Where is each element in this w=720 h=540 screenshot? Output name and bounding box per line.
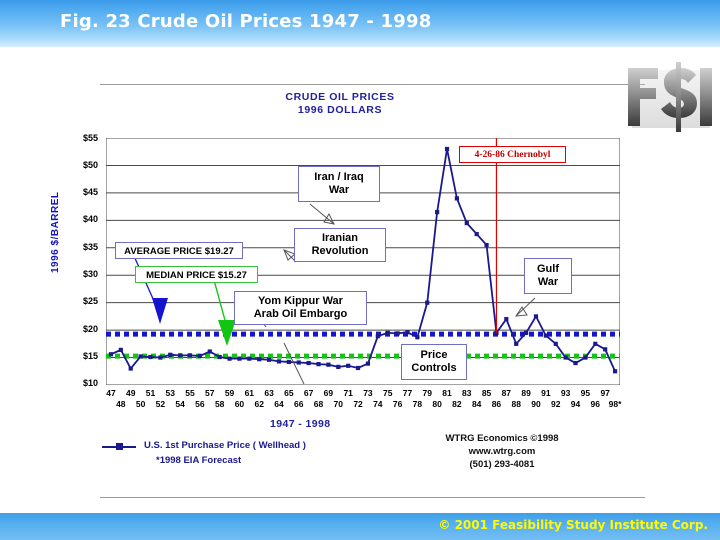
x-tick-58: 58 — [211, 399, 229, 409]
x-tick-86: 86 — [487, 399, 505, 409]
annotation-iranian-revolution-line2: Revolution — [312, 245, 369, 257]
annotation-gulf-war-line1: Gulf — [537, 263, 559, 275]
x-tick-48: 48 — [112, 399, 130, 409]
annotation-iran-iraq-war-line2: War — [329, 184, 349, 196]
x-tick-84: 84 — [468, 399, 486, 409]
y-tick-20: $20 — [83, 324, 98, 334]
x-axis-label: 1947 - 1998 — [270, 418, 330, 430]
x-tick-70: 70 — [329, 399, 347, 409]
x-tick-49: 49 — [122, 388, 140, 398]
x-tick-95: 95 — [576, 388, 594, 398]
x-tick-83: 83 — [458, 388, 476, 398]
y-tick-10: $10 — [83, 378, 98, 388]
annotation-iranian-revolution-line1: Iranian — [322, 232, 358, 244]
legend-footnote: *1998 EIA Forecast — [156, 455, 241, 466]
y-tick-45: $45 — [83, 187, 98, 197]
annotation-average-price-text: AVERAGE PRICE $19.27 — [124, 246, 234, 257]
x-tick-75: 75 — [379, 388, 397, 398]
annotation-iran-iraq-war: Iran / Iraq War — [298, 166, 380, 202]
x-tick-98*: 98* — [606, 399, 624, 409]
x-tick-82: 82 — [448, 399, 466, 409]
annotation-yom-kippur-war-line2: Arab Oil Embargo — [254, 308, 348, 320]
x-tick-97: 97 — [596, 388, 614, 398]
x-tick-67: 67 — [300, 388, 318, 398]
x-tick-61: 61 — [240, 388, 258, 398]
annotation-yom-kippur-war: Yom Kippur War Arab Oil Embargo — [234, 291, 367, 325]
annotation-median-price-text: MEDIAN PRICE $15.27 — [146, 270, 247, 281]
chart-title: CRUDE OIL PRICES — [190, 91, 490, 104]
x-tick-72: 72 — [349, 399, 367, 409]
x-tick-59: 59 — [221, 388, 239, 398]
chart-title-block: CRUDE OIL PRICES 1996 DOLLARS — [190, 91, 490, 117]
x-tick-66: 66 — [290, 399, 308, 409]
y-tick-40: $40 — [83, 214, 98, 224]
slide-header: Fig. 23 Crude Oil Prices 1947 - 1998 — [0, 0, 720, 47]
x-tick-89: 89 — [517, 388, 535, 398]
y-tick-25: $25 — [83, 296, 98, 306]
slide-footer: © 2001 Feasibility Study Institute Corp. — [0, 513, 720, 540]
x-tick-54: 54 — [171, 399, 189, 409]
x-tick-65: 65 — [280, 388, 298, 398]
legend-label-wellhead: U.S. 1st Purchase Price ( Wellhead ) — [144, 440, 306, 451]
legend-marker-swatch — [116, 443, 123, 450]
x-tick-80: 80 — [428, 399, 446, 409]
x-tick-91: 91 — [537, 388, 555, 398]
x-tick-71: 71 — [339, 388, 357, 398]
x-tick-94: 94 — [567, 399, 585, 409]
x-axis-ticks: 4748495051525354555657585960616263646566… — [106, 388, 620, 414]
annotation-price-controls: Price Controls — [401, 344, 467, 380]
y-tick-50: $50 — [83, 160, 98, 170]
x-tick-51: 51 — [141, 388, 159, 398]
y-tick-15: $15 — [83, 351, 98, 361]
y-tick-30: $30 — [83, 269, 98, 279]
x-tick-73: 73 — [359, 388, 377, 398]
x-tick-79: 79 — [418, 388, 436, 398]
x-tick-88: 88 — [507, 399, 525, 409]
x-tick-64: 64 — [270, 399, 288, 409]
source-line-3: (501) 293-4081 — [412, 458, 592, 471]
annotation-yom-kippur-war-line1: Yom Kippur War — [258, 295, 343, 307]
x-tick-50: 50 — [132, 399, 150, 409]
x-tick-53: 53 — [161, 388, 179, 398]
annotation-median-price: MEDIAN PRICE $15.27 — [135, 266, 258, 283]
annotation-average-price: AVERAGE PRICE $19.27 — [115, 242, 243, 259]
x-tick-52: 52 — [151, 399, 169, 409]
x-tick-85: 85 — [478, 388, 496, 398]
chart-subtitle: 1996 DOLLARS — [190, 104, 490, 117]
divider-bottom — [100, 497, 645, 498]
x-tick-62: 62 — [250, 399, 268, 409]
annotation-gulf-war: Gulf War — [524, 258, 572, 294]
x-tick-63: 63 — [260, 388, 278, 398]
y-tick-35: $35 — [83, 242, 98, 252]
footer-copyright: © 2001 Feasibility Study Institute Corp. — [438, 518, 708, 532]
annotation-chernobyl-text: 4-26-86 Chernobyl — [475, 150, 551, 160]
annotation-price-controls-line2: Controls — [411, 362, 456, 374]
x-tick-93: 93 — [557, 388, 575, 398]
source-line-1: WTRG Economics ©1998 — [412, 432, 592, 445]
x-tick-47: 47 — [102, 388, 120, 398]
x-tick-87: 87 — [497, 388, 515, 398]
chart-source-credit: WTRG Economics ©1998 www.wtrg.com (501) … — [412, 432, 592, 471]
page-title: Fig. 23 Crude Oil Prices 1947 - 1998 — [60, 11, 431, 32]
divider-top — [100, 84, 645, 85]
y-tick-55: $55 — [83, 133, 98, 143]
crude-oil-price-chart: CRUDE OIL PRICES 1996 DOLLARS 1996 $/BAR… — [40, 88, 660, 488]
x-tick-57: 57 — [201, 388, 219, 398]
annotation-gulf-war-line2: War — [538, 276, 558, 288]
x-tick-92: 92 — [547, 399, 565, 409]
x-tick-68: 68 — [310, 399, 328, 409]
annotation-iran-iraq-war-line1: Iran / Iraq — [314, 171, 364, 183]
annotation-chernobyl: 4-26-86 Chernobyl — [459, 146, 566, 163]
x-tick-69: 69 — [319, 388, 337, 398]
x-tick-81: 81 — [438, 388, 456, 398]
x-tick-55: 55 — [181, 388, 199, 398]
x-tick-56: 56 — [191, 399, 209, 409]
slide-canvas: Fig. 23 Crude Oil Prices 1947 - 1998 — [0, 0, 720, 540]
annotation-iranian-revolution: Iranian Revolution — [294, 228, 386, 262]
annotation-price-controls-line1: Price — [421, 349, 448, 361]
y-axis-ticks: $55 $50 $45 $40 $35 $30 $25 $20 $15 $10 — [60, 138, 102, 385]
x-tick-96: 96 — [586, 399, 604, 409]
x-tick-90: 90 — [527, 399, 545, 409]
x-tick-60: 60 — [230, 399, 248, 409]
source-line-2: www.wtrg.com — [412, 445, 592, 458]
x-tick-76: 76 — [389, 399, 407, 409]
x-tick-74: 74 — [369, 399, 387, 409]
x-tick-77: 77 — [398, 388, 416, 398]
x-tick-78: 78 — [408, 399, 426, 409]
